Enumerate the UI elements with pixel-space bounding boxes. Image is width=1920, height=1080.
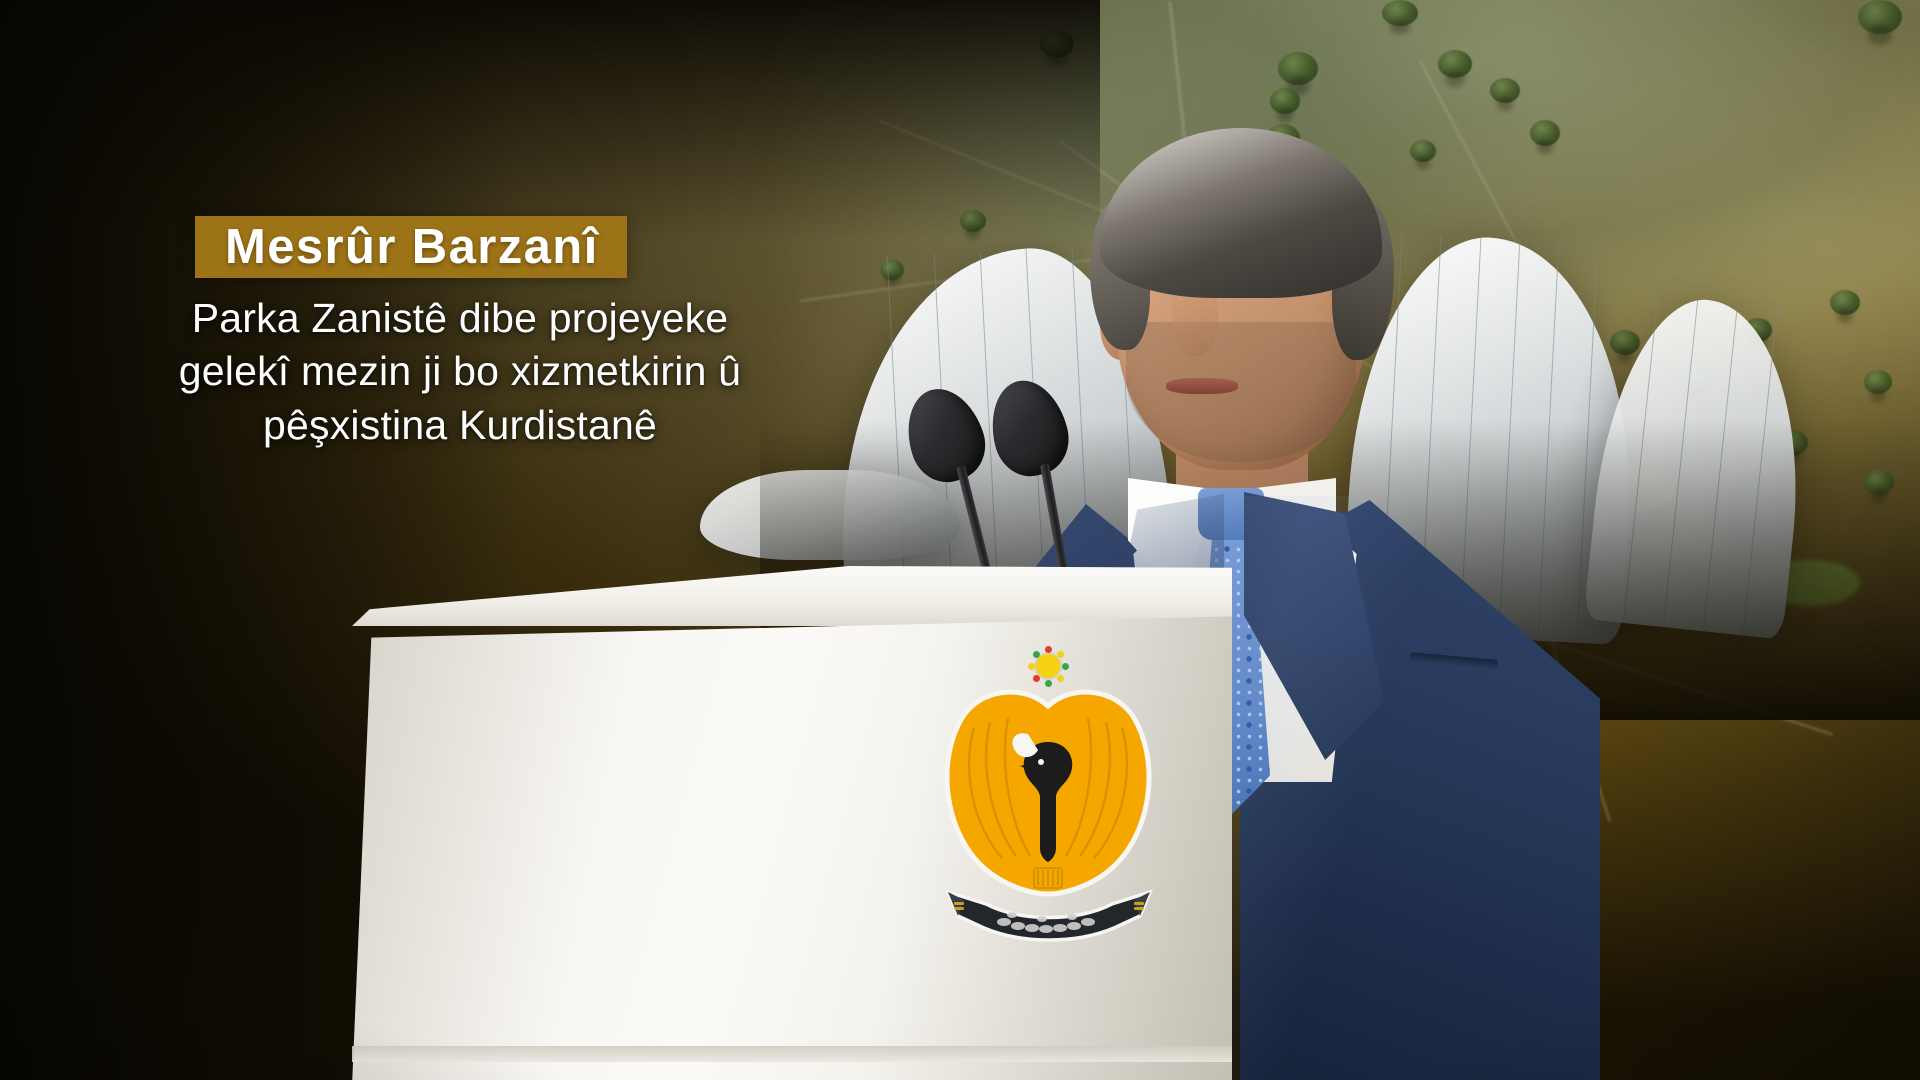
microphone-head: [981, 372, 1076, 483]
headline-line-3: pêşxistina Kurdistanê: [60, 399, 860, 452]
render-tree: [1438, 50, 1472, 78]
sun-ray: [1045, 646, 1052, 653]
render-tree: [1830, 290, 1860, 315]
render-tree: [1040, 30, 1074, 58]
speaker-name: Mesrûr Barzanî: [225, 223, 599, 272]
render-tree: [1610, 330, 1640, 355]
sun-ray: [1028, 663, 1035, 670]
speaker-name-banner: Mesrûr Barzanî: [195, 216, 627, 278]
kurdistan-region-eagle-emblem: [928, 646, 1168, 936]
emblem-ribbon-script: [942, 882, 1156, 942]
headline-line-1: Parka Zanistê dibe projeyeke: [60, 292, 860, 345]
sun-ray: [1062, 663, 1069, 670]
render-tree: [1864, 370, 1892, 394]
render-tree: [1278, 52, 1318, 85]
white-podium: [352, 566, 1232, 1080]
hair: [1100, 128, 1382, 298]
emblem-eagle-icon: [928, 672, 1168, 902]
headline-line-2: gelekî mezin ji bo xizmetkirin û: [60, 345, 860, 398]
render-tree: [1858, 0, 1902, 34]
podium-top-surface: [352, 566, 1232, 626]
podium-base-lip: [352, 1046, 1232, 1062]
news-graphic-card: Mesrûr Barzanî Parka Zanistê dibe projey…: [0, 0, 1920, 1080]
render-tree: [880, 260, 904, 280]
render-tree: [1382, 0, 1418, 26]
headline-text: Parka Zanistê dibe projeyeke gelekî mezi…: [60, 292, 860, 452]
